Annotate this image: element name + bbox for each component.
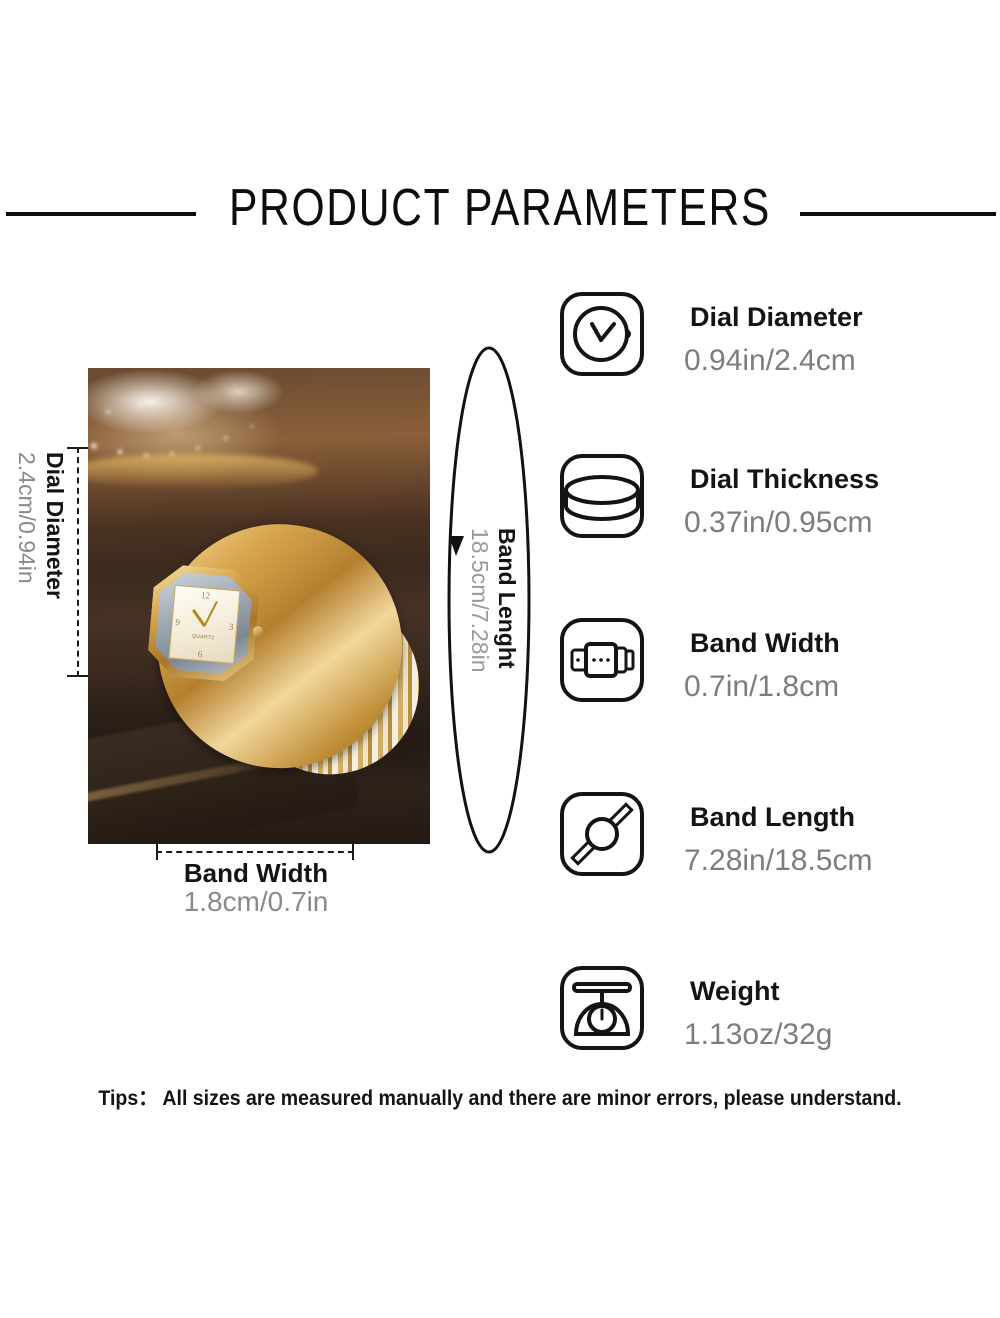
spec-value: 7.28in/18.5cm (684, 844, 872, 878)
band-width-icon (556, 614, 648, 706)
band-width-dimension-line (156, 850, 354, 854)
spec-label: Band Length (690, 802, 855, 833)
dial-numeral-6: 6 (197, 649, 202, 659)
product-photo: 12 3 6 9 QUARTZ (88, 368, 430, 844)
watch-product: 12 3 6 9 QUARTZ (124, 494, 406, 802)
band-width-annotation-label: Band Width (96, 858, 416, 889)
band-length-icon (556, 788, 648, 880)
watch-case: 12 3 6 9 QUARTZ (146, 563, 261, 684)
spec-label: Weight (690, 976, 780, 1007)
spec-label: Dial Diameter (690, 302, 863, 333)
weight-scale-icon (556, 962, 648, 1054)
page-title: PRODUCT PARAMETERS (90, 178, 910, 238)
spec-value: 0.94in/2.4cm (684, 344, 856, 378)
dial-minute-hand (203, 601, 217, 627)
spec-label: Band Width (690, 628, 840, 659)
spec-label: Dial Thickness (690, 464, 879, 495)
dial-numeral-3: 3 (228, 622, 233, 632)
dial-numeral-9: 9 (175, 617, 180, 627)
dial-brand-text: QUARTZ (192, 633, 215, 641)
photo-glass-rim (88, 454, 318, 488)
band-length-annotation-value: 18.5cm/7.28in (468, 528, 491, 672)
band-length-annotation-text: Band Lenght 18.5cm/7.28in (434, 340, 544, 860)
watch-dial: 12 3 6 9 QUARTZ (168, 585, 240, 664)
product-parameters-page: PRODUCT PARAMETERS 12 3 6 9 (0, 0, 1000, 1318)
spec-value: 0.7in/1.8cm (684, 670, 839, 704)
spec-value: 1.13oz/32g (684, 1018, 832, 1052)
spec-row-band-width: Band Width 0.7in/1.8cm (556, 614, 996, 724)
header: PRODUCT PARAMETERS (0, 178, 1000, 250)
spec-row-band-length: Band Length 7.28in/18.5cm (556, 788, 996, 898)
photo-background: 12 3 6 9 QUARTZ (88, 368, 430, 844)
spec-row-dial-diameter: Dial Diameter 0.94in/2.4cm (556, 288, 996, 398)
dimension-dashed-line (156, 851, 354, 853)
watch-dial-icon (556, 288, 648, 380)
band-length-annotation-label: Band Lenght (495, 528, 518, 669)
spec-row-dial-thickness: Dial Thickness 0.37in/0.95cm (556, 450, 996, 560)
band-width-annotation-value: 1.8cm/0.7in (96, 886, 416, 918)
dial-thickness-icon (556, 450, 648, 542)
dial-numeral-12: 12 (201, 590, 211, 601)
dial-diameter-annotation-value: 2.4cm/0.94in (15, 452, 38, 584)
tips-note: Tips： All sizes are measured manually an… (35, 1082, 965, 1112)
dial-diameter-annotation-label: Dial Diameter (43, 452, 66, 599)
dial-diameter-annotation: Dial Diameter 2.4cm/0.94in (8, 446, 78, 678)
spec-row-weight: Weight 1.13oz/32g (556, 962, 996, 1072)
band-length-ellipse-annotation: Band Lenght 18.5cm/7.28in (434, 340, 544, 860)
spec-value: 0.37in/0.95cm (684, 506, 872, 540)
